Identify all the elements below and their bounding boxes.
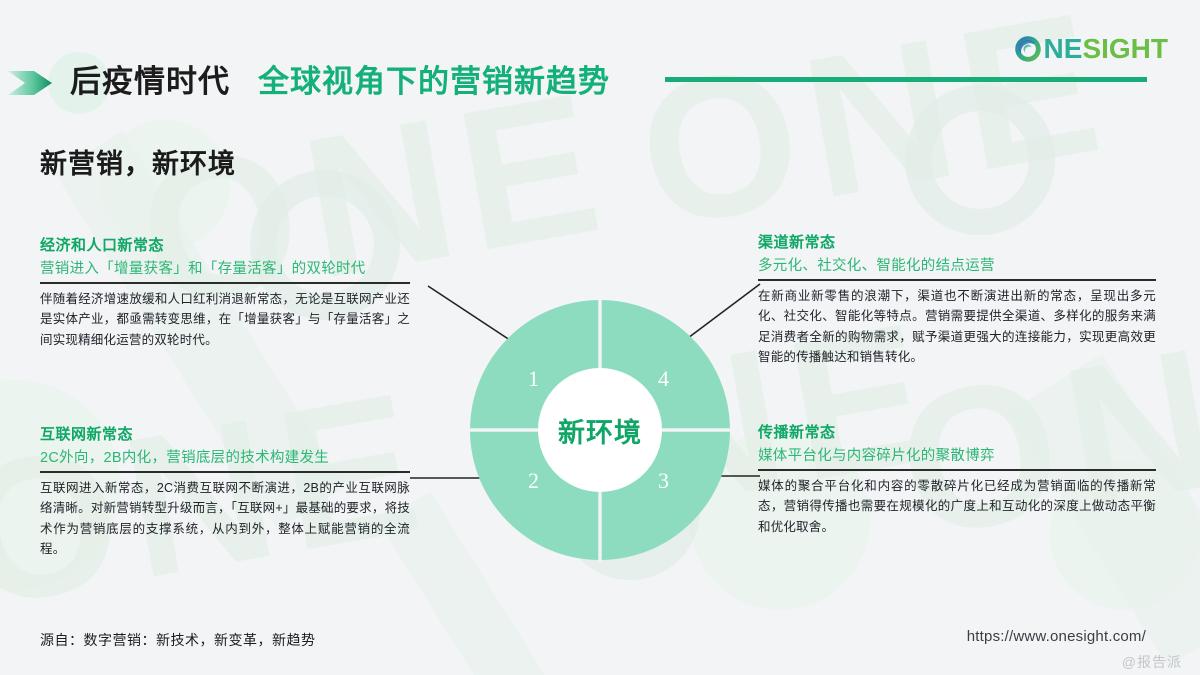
info-block-economy: 经济和人口新常态 营销进入「增量获客」和「存量活客」的双轮时代 伴随着经济增速放… [40,234,410,350]
info-block-body: 在新商业新零售的浪潮下，渠道也不断演进出新的常态，呈现出多元化、社交化、智能化等… [758,286,1156,369]
quadrant-number-1: 1 [528,366,539,392]
page-title-accent: 全球视角下的营销新趋势 [258,56,610,101]
section-heading: 新营销，新环境 [40,142,236,181]
header-rule [665,77,1147,82]
info-block-title: 经济和人口新常态 [40,234,410,255]
info-block-body: 媒体的聚合平台化和内容的零散碎片化已经成为营销面临的传播新常态，营销得传播也需要… [758,476,1156,538]
watermark-tag: @报告派 [1122,652,1182,672]
quadrant-donut-diagram: 1 2 3 4 新环境 [468,298,732,562]
info-block-body: 互联网进入新常态，2C消费互联网不断演进，2B的产业互联网脉络清晰。对新营销转型… [40,478,410,561]
info-block-title: 互联网新常态 [40,423,410,444]
quadrant-number-2: 2 [528,468,539,494]
page-title: 后疫情时代 [70,56,230,101]
slide-header: 后疫情时代 全球视角下的营销新趋势 [0,55,1200,111]
info-block-body: 伴随着经济增速放缓和人口红利消退新常态，无论是互联网产业还是实体产业，都亟需转变… [40,289,410,351]
info-block-subtitle: 媒体平台化与内容碎片化的聚散博弈 [758,444,1156,469]
site-url[interactable]: https://www.onesight.com/ [967,628,1146,645]
info-block-title: 传播新常态 [758,421,1156,442]
donut-center-hub: 新环境 [538,368,662,492]
chevron-right-icon [8,67,54,99]
slide-canvas: ONE ONE ONE ONE ONE NE SIGHT [0,0,1200,675]
source-note: 源自：数字营销：新技术，新变革，新趋势 [40,630,316,650]
donut-center-label: 新环境 [558,411,642,450]
info-block-communication: 传播新常态 媒体平台化与内容碎片化的聚散博弈 媒体的聚合平台化和内容的零散碎片化… [758,421,1156,537]
quadrant-number-4: 4 [658,366,669,392]
info-block-subtitle: 2C外向，2B内化，营销底层的技术构建发生 [40,446,410,471]
info-block-title: 渠道新常态 [758,231,1156,252]
info-block-rule [40,471,410,473]
decor-blob [100,120,230,250]
quadrant-number-3: 3 [658,468,669,494]
info-block-rule [40,282,410,284]
info-block-channel: 渠道新常态 多元化、社交化、智能化的结点运营 在新商业新零售的浪潮下，渠道也不断… [758,231,1156,368]
info-block-rule [758,279,1156,281]
info-block-internet: 互联网新常态 2C外向，2B内化，营销底层的技术构建发生 互联网进入新常态，2C… [40,423,410,560]
info-block-subtitle: 营销进入「增量获客」和「存量活客」的双轮时代 [40,257,410,282]
info-block-subtitle: 多元化、社交化、智能化的结点运营 [758,254,1156,279]
info-block-rule [758,469,1156,471]
